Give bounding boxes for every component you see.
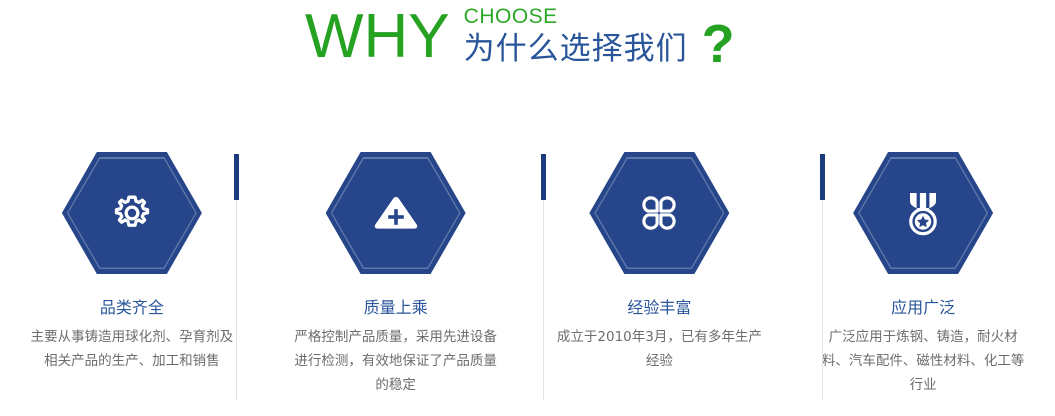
divider-line [236,200,237,400]
hexagon-badge-3 [589,152,729,274]
gear-icon [62,152,202,274]
header-choose-word: CHOOSE [464,5,688,29]
header-chinese-title: 为什么选择我们 [464,31,688,67]
feature-title-2: 质量上乘 [364,298,428,318]
feature-title-1: 品类齐全 [100,298,164,318]
feature-column-4: 应用广泛 广泛应用于炼钢、铸造，耐火材料、汽车配件、磁性材料、化工等行业 [791,140,1055,416]
hexagon-badge-2 [326,152,466,274]
hexagon-badge-4 [853,152,993,274]
header-title-group: WHY CHOOSE 为什么选择我们 ? [305,2,735,74]
feature-columns: 品类齐全 主要从事铸造用球化剂、孕育剂及相关产品的生产、加工和销售 质量上乘 严… [0,140,1055,416]
section-header: WHY CHOOSE 为什么选择我们 ? [0,0,1055,95]
header-question-mark: ? [702,14,735,74]
feature-title-4: 应用广泛 [891,298,955,318]
feature-column-1: 品类齐全 主要从事铸造用球化剂、孕育剂及相关产品的生产、加工和销售 [0,140,264,416]
divider-line [822,200,823,400]
feature-desc-4: 广泛应用于炼钢、铸造，耐火材料、汽车配件、磁性材料、化工等行业 [816,325,1031,397]
header-why-word: WHY [305,2,450,72]
divider-bar [541,154,546,200]
feature-title-3: 经验丰富 [627,298,691,318]
four-petal-clover-icon [589,152,729,274]
medal-icon [853,152,993,274]
divider-bar [820,154,825,200]
feature-desc-3: 成立于2010年3月，已有多年生产经验 [552,325,767,373]
feature-column-3: 经验丰富 成立于2010年3月，已有多年生产经验 [528,140,792,416]
divider-bar [234,154,239,200]
triangle-plus-icon [326,152,466,274]
feature-column-2: 质量上乘 严格控制产品质量，采用先进设备进行检测，有效地保证了产品质量的稳定 [264,140,528,416]
hexagon-badge-1 [62,152,202,274]
divider-line [543,200,544,400]
column-divider-2 [541,140,546,416]
column-divider-3 [820,140,825,416]
header-text-stack: CHOOSE 为什么选择我们 [464,5,688,67]
feature-desc-2: 严格控制产品质量，采用先进设备进行检测，有效地保证了产品质量的稳定 [288,325,503,397]
feature-desc-1: 主要从事铸造用球化剂、孕育剂及相关产品的生产、加工和销售 [24,325,239,373]
column-divider-1 [234,140,239,416]
